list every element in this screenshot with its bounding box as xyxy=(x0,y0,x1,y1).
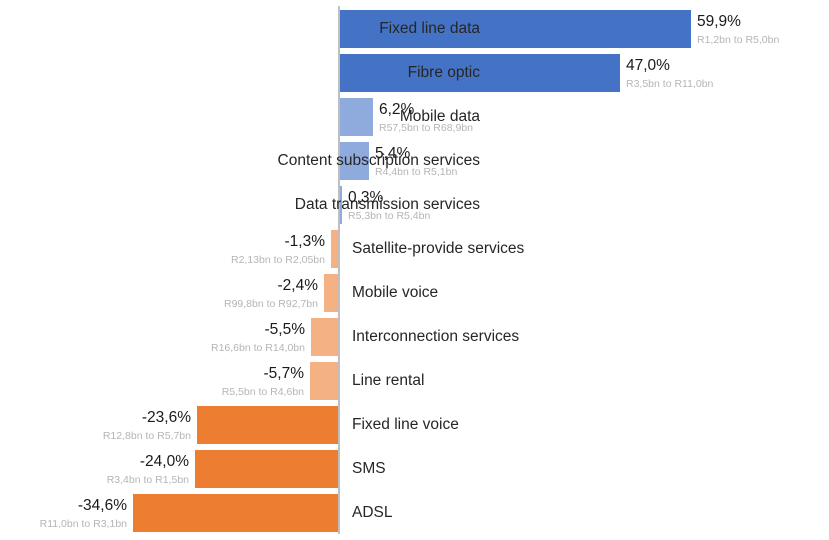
bar-sms[interactable] xyxy=(195,450,338,488)
value-block-adsl: -34,6%R11,0bn to R3,1bn xyxy=(40,492,127,534)
bar-line-rental[interactable] xyxy=(310,362,338,400)
category-label-sms: SMS xyxy=(352,448,386,490)
value-label-line-rental: -5,7% xyxy=(264,364,305,383)
range-label-fixed-line-voice: R12,8bn to R5,7bn xyxy=(103,430,191,443)
value-label-content-subscription-services: 5,4% xyxy=(375,144,410,163)
value-block-mobile-data: 6,2%R57,5bn to R68,9bn xyxy=(379,96,473,138)
chart-row-satellite-provide-services: Satellite-provide services-1,3%R2,13bn t… xyxy=(0,228,829,270)
category-label-mobile-voice: Mobile voice xyxy=(352,272,438,314)
value-block-fixed-line-data: 59,9%R1,2bn to R5,0bn xyxy=(697,8,779,50)
value-label-mobile-voice: -2,4% xyxy=(278,276,319,295)
value-block-fixed-line-voice: -23,6%R12,8bn to R5,7bn xyxy=(103,404,191,446)
chart-row-sms: SMS-24,0%R3,4bn to R1,5bn xyxy=(0,448,829,490)
chart-row-fixed-line-voice: Fixed line voice-23,6%R12,8bn to R5,7bn xyxy=(0,404,829,446)
category-label-fixed-line-voice: Fixed line voice xyxy=(352,404,459,446)
bar-interconnection-services[interactable] xyxy=(311,318,338,356)
category-label-adsl: ADSL xyxy=(352,492,393,534)
value-label-fixed-line-data: 59,9% xyxy=(697,12,741,31)
value-block-satellite-provide-services: -1,3%R2,13bn to R2,05bn xyxy=(231,228,325,270)
range-label-data-transmission-services: R5,3bn to R5,4bn xyxy=(348,210,430,223)
range-label-satellite-provide-services: R2,13bn to R2,05bn xyxy=(231,254,325,267)
range-label-mobile-data: R57,5bn to R68,9bn xyxy=(379,122,473,135)
chart-row-fixed-line-data: Fixed line data59,9%R1,2bn to R5,0bn xyxy=(0,8,829,50)
diverging-bar-chart: Fixed line data59,9%R1,2bn to R5,0bnFibr… xyxy=(0,0,829,540)
category-label-line-rental: Line rental xyxy=(352,360,424,402)
bar-satellite-provide-services[interactable] xyxy=(331,230,338,268)
value-label-sms: -24,0% xyxy=(140,452,189,471)
bar-mobile-voice[interactable] xyxy=(324,274,338,312)
range-label-interconnection-services: R16,6bn to R14,0bn xyxy=(211,342,305,355)
bar-adsl[interactable] xyxy=(133,494,338,532)
chart-row-mobile-data: Mobile data6,2%R57,5bn to R68,9bn xyxy=(0,96,829,138)
range-label-fixed-line-data: R1,2bn to R5,0bn xyxy=(697,34,779,47)
value-label-adsl: -34,6% xyxy=(78,496,127,515)
value-label-fixed-line-voice: -23,6% xyxy=(142,408,191,427)
bar-fibre-optic[interactable] xyxy=(340,54,620,92)
value-label-satellite-provide-services: -1,3% xyxy=(285,232,326,251)
value-block-mobile-voice: -2,4%R99,8bn to R92,7bn xyxy=(224,272,318,314)
value-block-data-transmission-services: 0,3%R5,3bn to R5,4bn xyxy=(348,184,430,226)
chart-row-data-transmission-services: Data transmission services0,3%R5,3bn to … xyxy=(0,184,829,226)
category-label-fixed-line-data: Fixed line data xyxy=(379,8,480,50)
category-label-fibre-optic: Fibre optic xyxy=(408,52,480,94)
value-block-fibre-optic: 47,0%R3,5bn to R11,0bn xyxy=(626,52,713,94)
chart-row-line-rental: Line rental-5,7%R5,5bn to R4,6bn xyxy=(0,360,829,402)
category-label-interconnection-services: Interconnection services xyxy=(352,316,519,358)
range-label-content-subscription-services: R4,4bn to R5,1bn xyxy=(375,166,457,179)
chart-row-interconnection-services: Interconnection services-5,5%R16,6bn to … xyxy=(0,316,829,358)
chart-row-fibre-optic: Fibre optic47,0%R3,5bn to R11,0bn xyxy=(0,52,829,94)
range-label-line-rental: R5,5bn to R4,6bn xyxy=(222,386,304,399)
bar-mobile-data[interactable] xyxy=(340,98,373,136)
value-block-interconnection-services: -5,5%R16,6bn to R14,0bn xyxy=(211,316,305,358)
range-label-adsl: R11,0bn to R3,1bn xyxy=(40,518,127,531)
value-label-data-transmission-services: 0,3% xyxy=(348,188,383,207)
chart-row-mobile-voice: Mobile voice-2,4%R99,8bn to R92,7bn xyxy=(0,272,829,314)
value-label-interconnection-services: -5,5% xyxy=(265,320,306,339)
range-label-fibre-optic: R3,5bn to R11,0bn xyxy=(626,78,713,91)
range-label-mobile-voice: R99,8bn to R92,7bn xyxy=(224,298,318,311)
chart-row-adsl: ADSL-34,6%R11,0bn to R3,1bn xyxy=(0,492,829,534)
chart-row-content-subscription-services: Content subscription services5,4%R4,4bn … xyxy=(0,140,829,182)
value-block-content-subscription-services: 5,4%R4,4bn to R5,1bn xyxy=(375,140,457,182)
range-label-sms: R3,4bn to R1,5bn xyxy=(107,474,189,487)
bar-fixed-line-voice[interactable] xyxy=(197,406,338,444)
value-label-fibre-optic: 47,0% xyxy=(626,56,670,75)
value-label-mobile-data: 6,2% xyxy=(379,100,414,119)
value-block-line-rental: -5,7%R5,5bn to R4,6bn xyxy=(222,360,304,402)
value-block-sms: -24,0%R3,4bn to R1,5bn xyxy=(107,448,189,490)
category-label-satellite-provide-services: Satellite-provide services xyxy=(352,228,524,270)
